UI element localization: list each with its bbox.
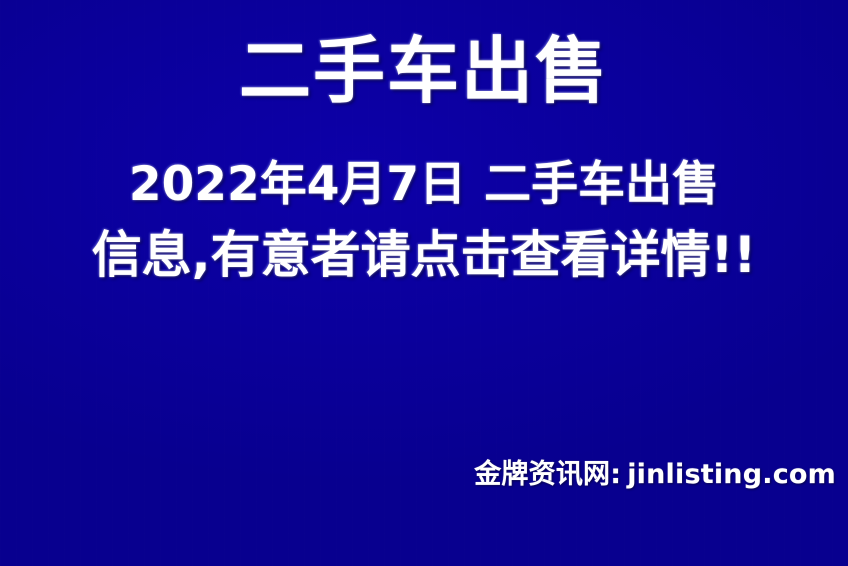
body-text-line-1: 2022年4月7日二手车出售 xyxy=(0,157,848,213)
listing-subject: 二手车出售 xyxy=(484,157,719,212)
watermark-site-url: jinlisting.com xyxy=(627,459,836,490)
posting-date: 2022年4月7日 xyxy=(129,157,466,212)
watermark: 金牌资讯网:jinlisting.com xyxy=(474,458,836,492)
body-text-line-2: 信息,有意者请点击查看详情!! xyxy=(0,225,848,285)
watermark-site-name: 金牌资讯网: xyxy=(474,459,621,490)
page-title: 二手车出售 xyxy=(0,31,848,111)
advertisement-banner: 二手车出售 2022年4月7日二手车出售 信息,有意者请点击查看详情!! 金牌资… xyxy=(0,0,848,566)
